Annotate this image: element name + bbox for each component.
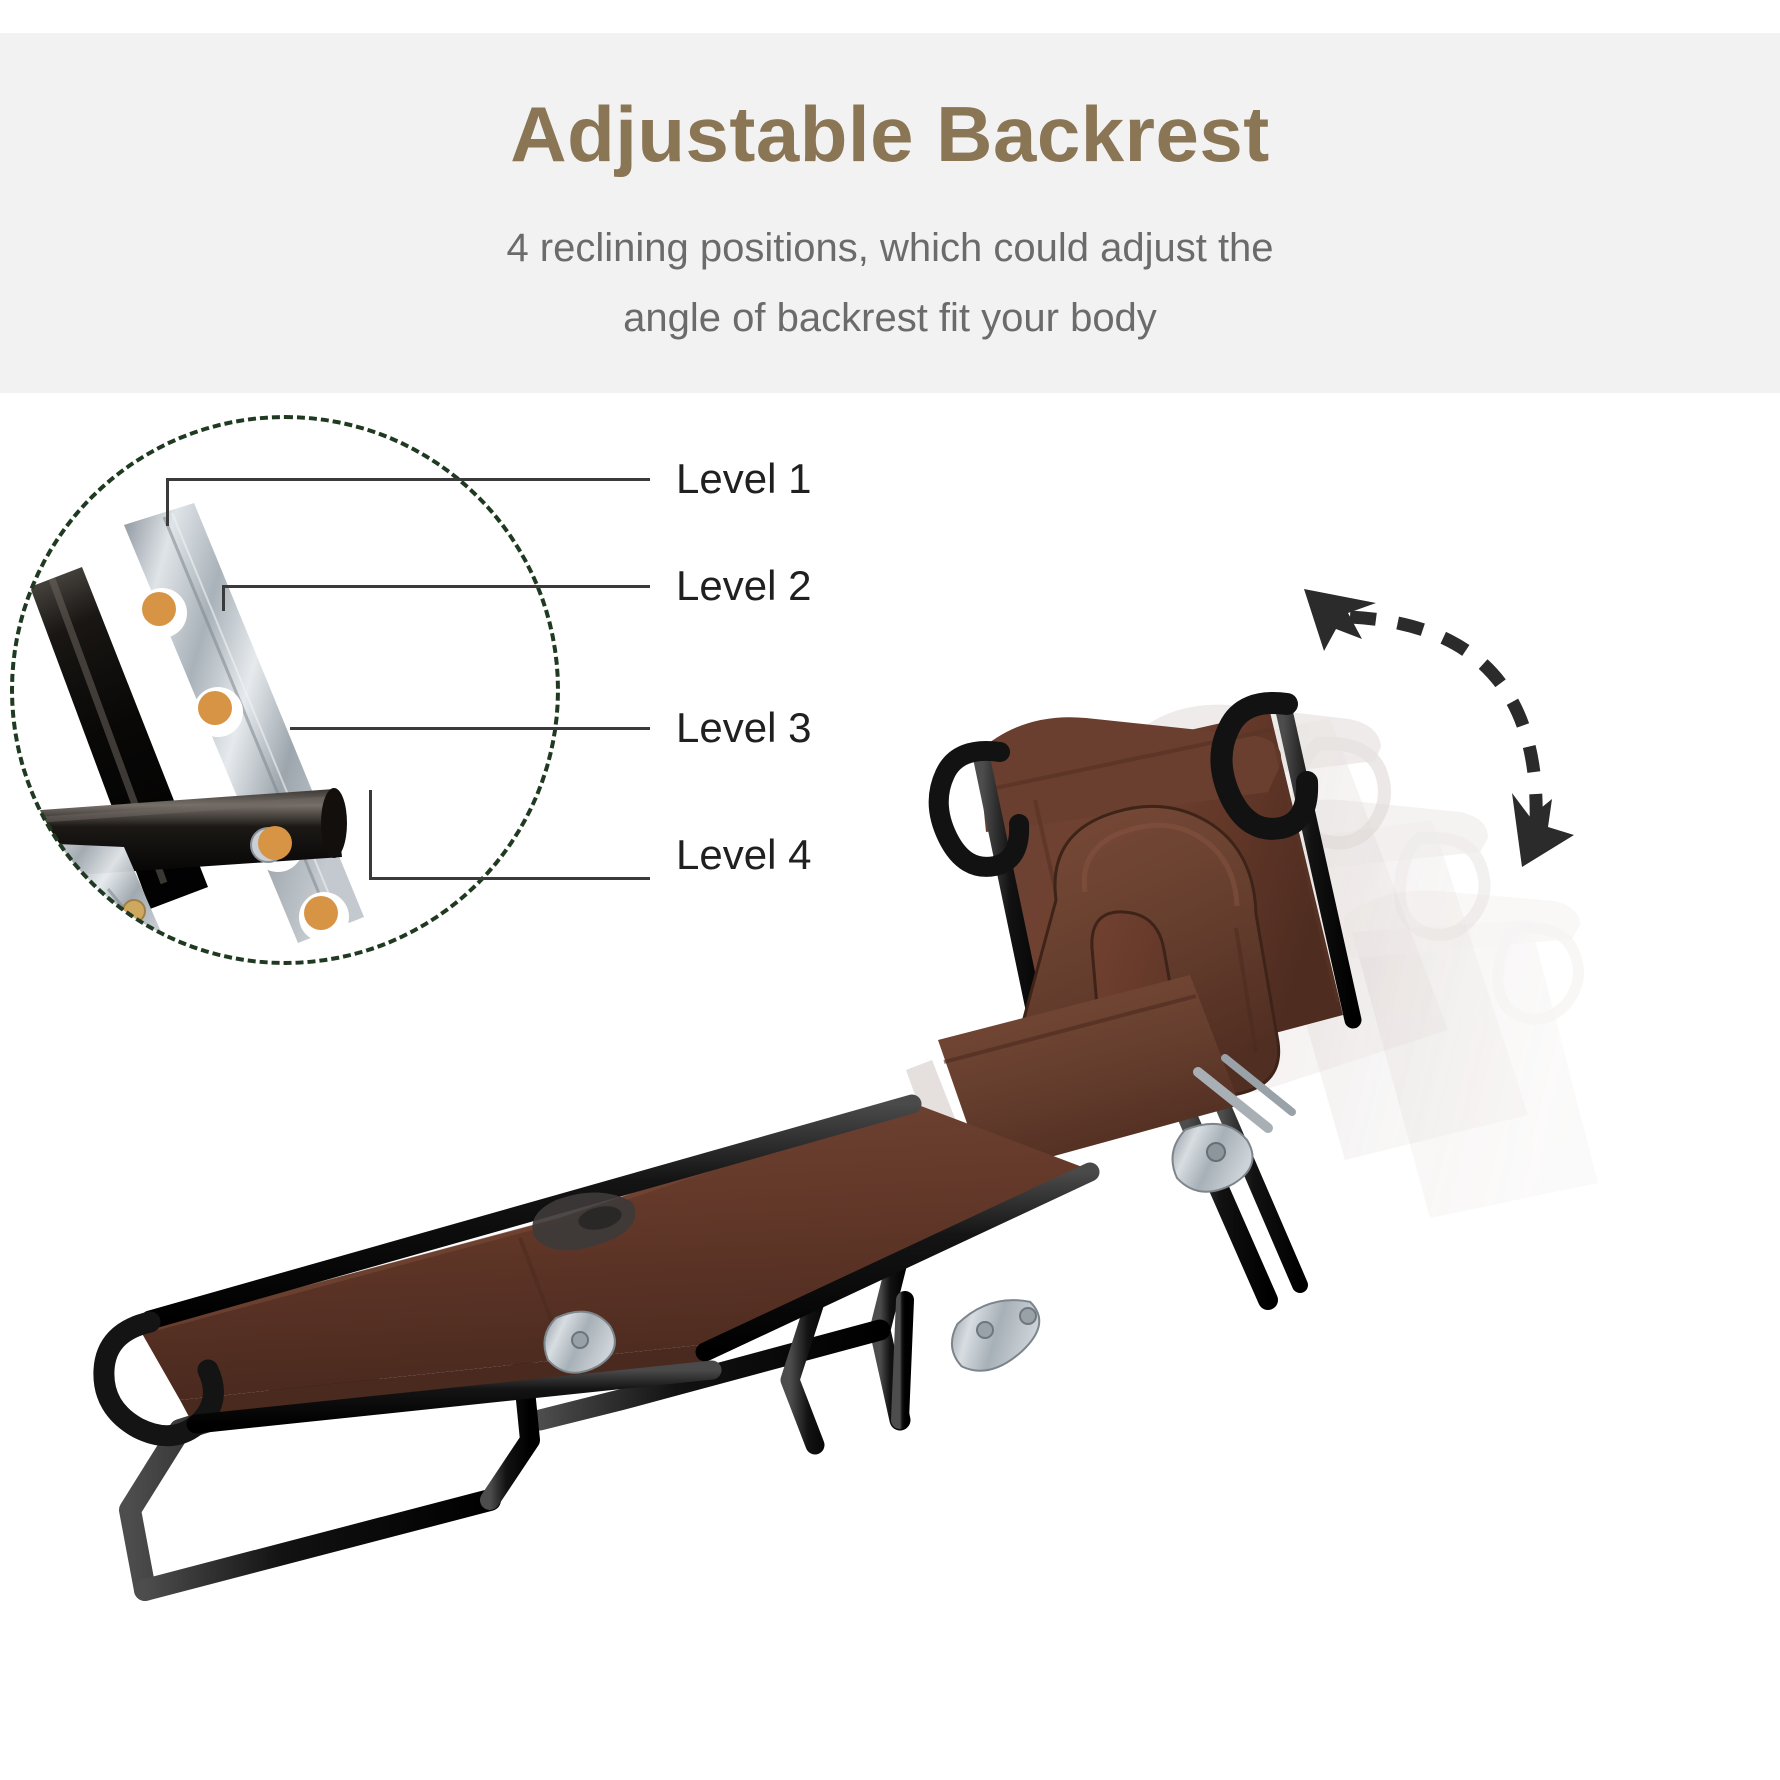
leader-line-2-vertical (222, 585, 225, 611)
arrow-down-icon (1512, 793, 1574, 867)
level-dot-1 (142, 592, 176, 626)
level-dot-4 (304, 896, 338, 930)
recline-arc-arrow (1290, 555, 1610, 885)
leader-line-1-horizontal (166, 478, 650, 481)
level-label-1: Level 1 (676, 455, 811, 503)
leader-line-2-horizontal (222, 585, 650, 588)
infographic-page: Adjustable Backrest 4 reclining position… (0, 0, 1780, 1780)
level-label-2: Level 2 (676, 562, 811, 610)
detail-circle-icon (10, 415, 560, 965)
leader-line-4-vertical (369, 790, 372, 880)
arc-dash-path (1350, 617, 1536, 823)
level-label-3: Level 3 (676, 704, 811, 752)
seat-surface (104, 1100, 1090, 1436)
level-dot-3 (258, 826, 292, 860)
detail-inset (10, 415, 650, 970)
leader-line-3-horizontal (290, 727, 650, 730)
level-label-4: Level 4 (676, 831, 811, 879)
leader-line-1-vertical (166, 478, 169, 526)
level-dot-2 (198, 691, 232, 725)
leader-line-4-horizontal (369, 877, 650, 880)
